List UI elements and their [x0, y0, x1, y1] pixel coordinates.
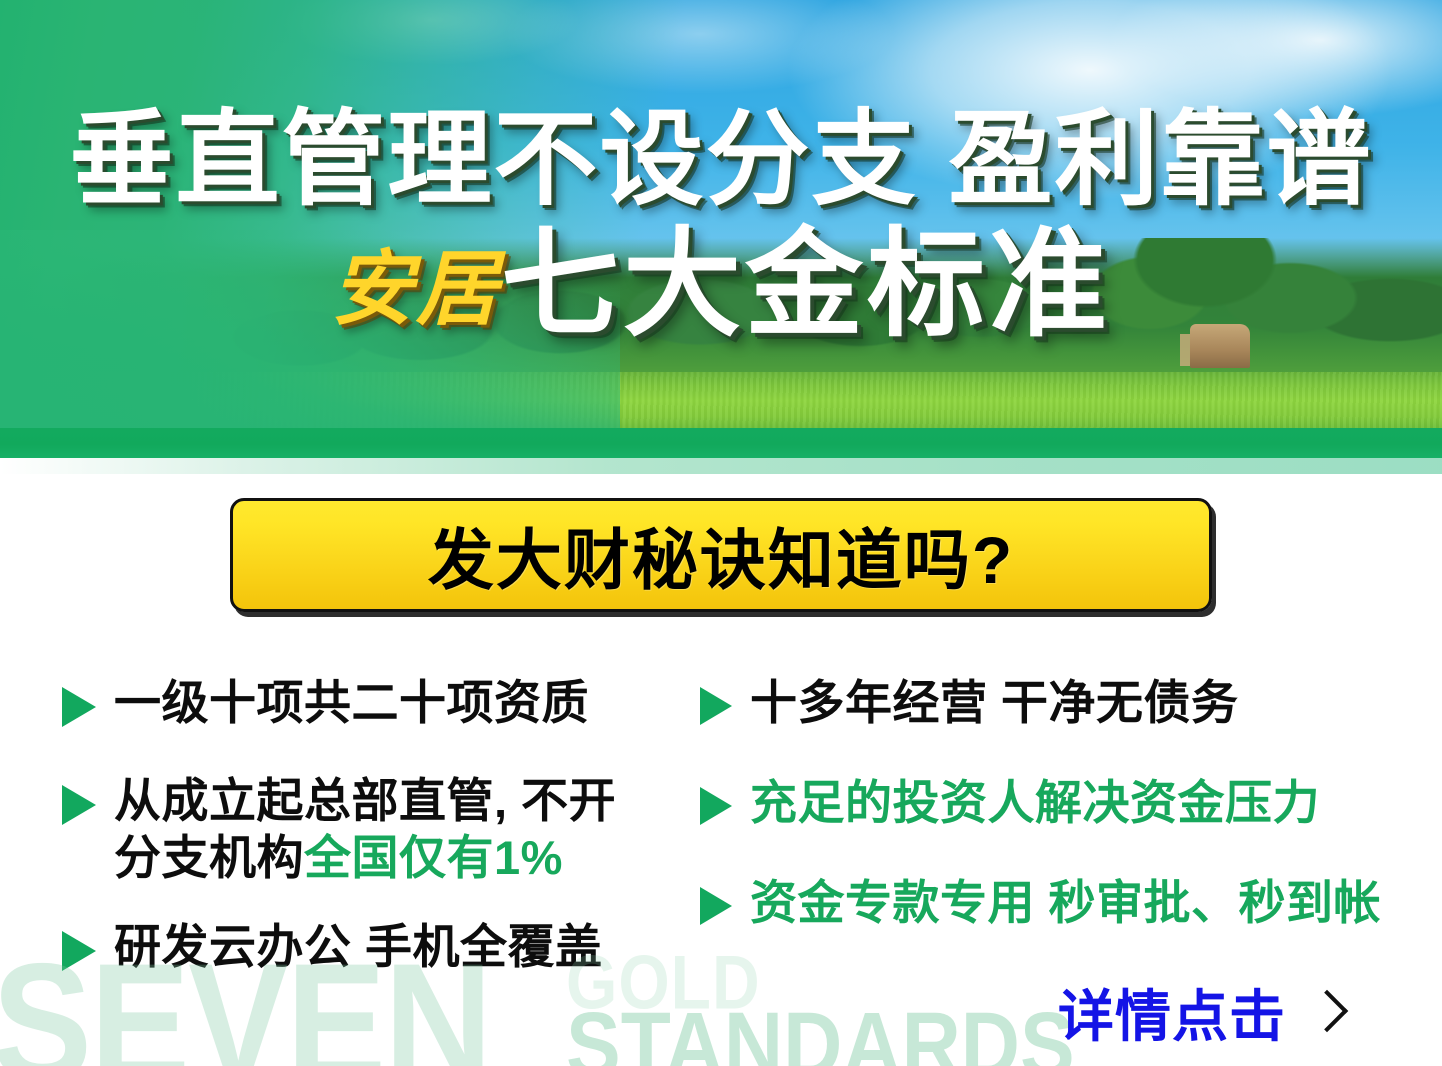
- list-item-label: 从成立起总部直管, 不开 分支机构全国仅有1%: [114, 772, 616, 887]
- details-cta-label: 详情点击: [1058, 972, 1286, 1053]
- list-item-label: 十多年经营 干净无债务: [750, 674, 1239, 731]
- headline-callout-text: 发大财秘诀知道吗?: [428, 507, 1014, 603]
- list-item: 研发云办公 手机全覆盖: [62, 918, 603, 975]
- hero-headline-secondary: 安居七大金标准: [0, 212, 1442, 344]
- hero-headline-brand-prefix: 安居: [331, 244, 501, 335]
- headline-callout-banner[interactable]: 发大财秘诀知道吗?: [230, 498, 1212, 612]
- list-item: 从成立起总部直管, 不开 分支机构全国仅有1%: [62, 772, 616, 887]
- list-item-label: 充足的投资人解决资金压力: [750, 774, 1320, 831]
- list-item-label: 资金专款专用 秒审批、秒到帐: [750, 874, 1381, 931]
- hero-headline-secondary-main: 七大金标准: [501, 219, 1111, 351]
- triangle-bullet-icon: [700, 787, 732, 825]
- details-cta-link[interactable]: 详情点击: [1058, 972, 1342, 1053]
- triangle-bullet-icon: [62, 687, 96, 727]
- hero-headline-primary: 垂直管理不设分支 盈利靠谱: [0, 0, 1442, 212]
- watermark-line-standards: STANDARDS: [566, 1000, 1075, 1066]
- list-item: 充足的投资人解决资金压力: [700, 774, 1320, 831]
- list-item-label: 一级十项共二十项资质: [114, 674, 589, 731]
- hero-banner: 垂直管理不设分支 盈利靠谱 安居七大金标准: [0, 0, 1442, 458]
- triangle-bullet-icon: [62, 785, 96, 825]
- triangle-bullet-icon: [700, 887, 732, 925]
- triangle-bullet-icon: [62, 931, 96, 971]
- list-item: 资金专款专用 秒审批、秒到帐: [700, 874, 1381, 931]
- feature-bullets: 一级十项共二十项资质 从成立起总部直管, 不开 分支机构全国仅有1% 研发云办公…: [0, 660, 1442, 990]
- list-item-label-highlight: 全国仅有1%: [304, 831, 563, 884]
- headline-callout-banner-body[interactable]: 发大财秘诀知道吗?: [230, 498, 1212, 612]
- hero-copy: 垂直管理不设分支 盈利靠谱 安居七大金标准: [0, 0, 1442, 344]
- hero-bottom-fade: [0, 458, 1442, 474]
- triangle-bullet-icon: [700, 687, 732, 725]
- list-item: 十多年经营 干净无债务: [700, 674, 1239, 731]
- hero-green-band: [0, 428, 1442, 458]
- list-item: 一级十项共二十项资质: [62, 674, 589, 731]
- chevron-right-icon: [1306, 989, 1348, 1031]
- list-item-label: 研发云办公 手机全覆盖: [114, 918, 603, 975]
